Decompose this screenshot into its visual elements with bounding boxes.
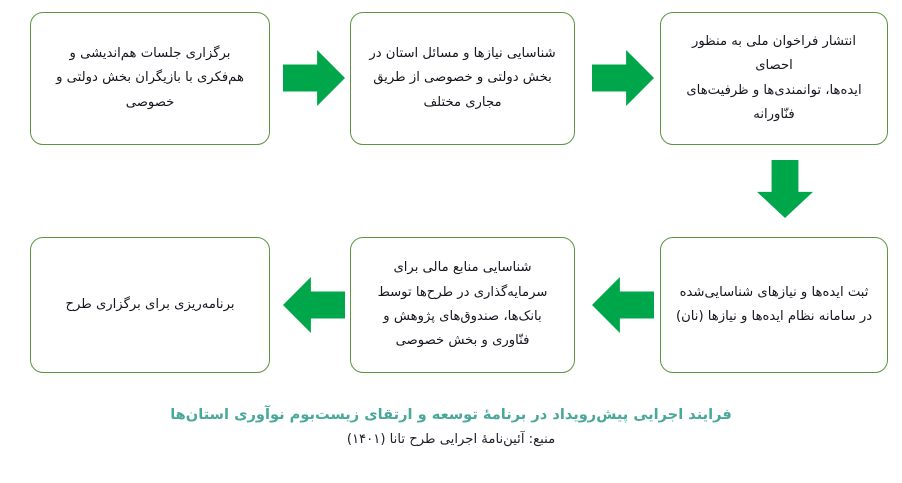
figure-caption: فرایند اجرایی پیش‌رویداد در برنامهٔ توسع… (0, 404, 902, 450)
process-node-label: شناسایی نیازها و مسائل استان در بخش دولت… (369, 42, 555, 115)
process-node-label: انتشار فراخوان ملی به منظور احصای ایده‌ه… (675, 30, 873, 128)
figure-caption-source: منبع: آئین‌نامهٔ اجرایی طرح تانا (۱۴۰۱) (0, 430, 902, 450)
figure-caption-title: فرایند اجرایی پیش‌رویداد در برنامهٔ توسع… (0, 404, 902, 426)
process-node-label: ثبت ایده‌ها و نیازهای شناسایی‌شده در سام… (676, 281, 872, 330)
arrow-right-icon (283, 50, 345, 106)
process-node-national-call[interactable]: انتشار فراخوان ملی به منظور احصای ایده‌ه… (660, 12, 888, 145)
flowchart-diagram: برگزاری جلسات هم‌اندیشی و هم‌فکری با باز… (0, 0, 902, 483)
arrow-right-icon (592, 50, 654, 106)
process-node-register-ideas[interactable]: ثبت ایده‌ها و نیازهای شناسایی‌شده در سام… (660, 237, 888, 373)
arrow-left-icon (592, 277, 654, 333)
process-node-identify-funding[interactable]: شناسایی منابع مالی برای سرمایه‌گذاری در … (350, 237, 575, 373)
process-node-convene-meetings[interactable]: برگزاری جلسات هم‌اندیشی و هم‌فکری با باز… (30, 12, 270, 145)
process-node-plan-event[interactable]: برنامه‌ریزی برای برگزاری طرح (30, 237, 270, 373)
arrow-left-icon (283, 277, 345, 333)
process-node-label: شناسایی منابع مالی برای سرمایه‌گذاری در … (378, 256, 548, 354)
process-node-label: برگزاری جلسات هم‌اندیشی و هم‌فکری با باز… (56, 42, 244, 115)
arrow-down-icon (757, 160, 813, 218)
process-node-identify-needs[interactable]: شناسایی نیازها و مسائل استان در بخش دولت… (350, 12, 575, 145)
process-node-label: برنامه‌ریزی برای برگزاری طرح (65, 293, 234, 317)
